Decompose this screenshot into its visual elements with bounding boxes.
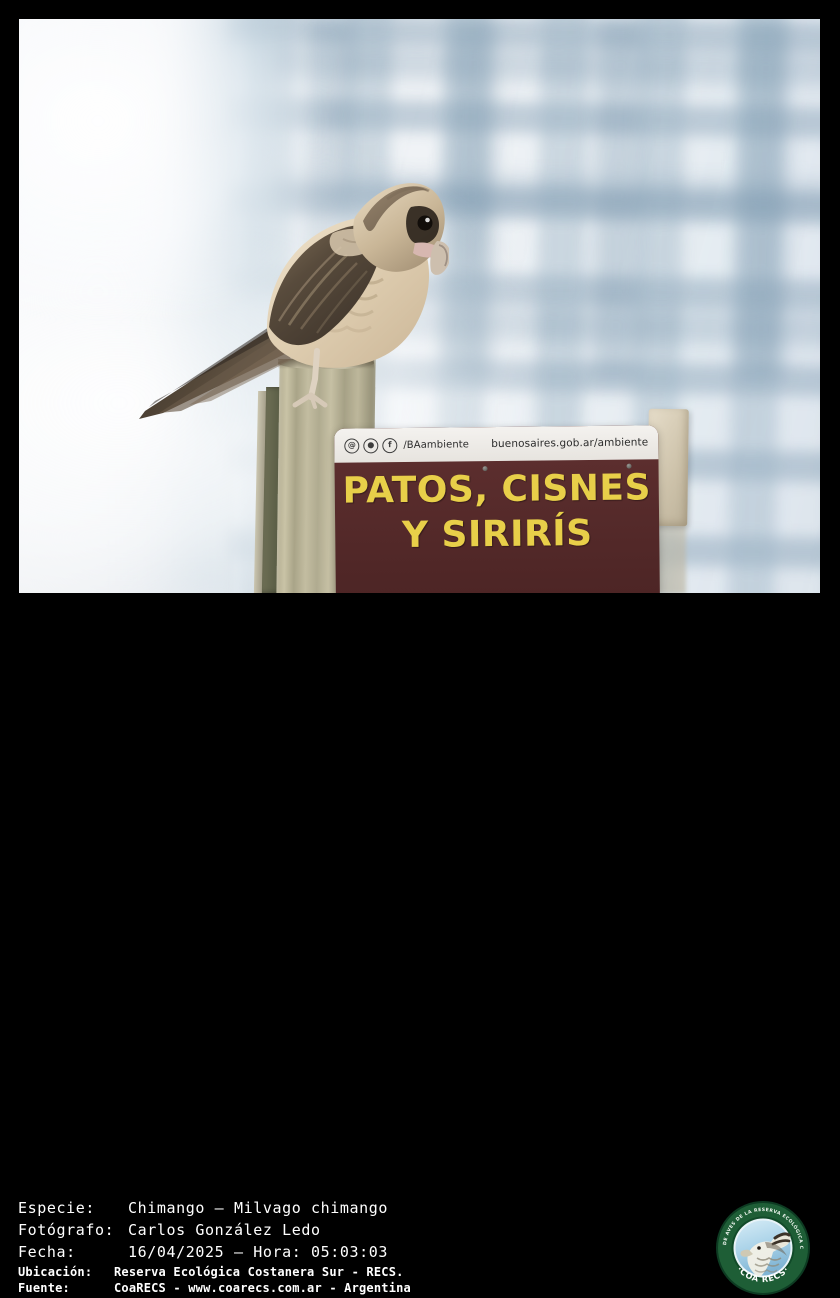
caption-row-fecha: Fecha:16/04/2025 — Hora: 05:03:03 xyxy=(18,1243,388,1261)
caption-value-ubicacion: Reserva Ecológica Costanera Sur - RECS. xyxy=(114,1265,404,1279)
caption-label-especie: Especie: xyxy=(18,1199,128,1217)
caption-row-ubicacion: Ubicación:Reserva Ecológica Costanera Su… xyxy=(18,1265,404,1279)
caption-row-fuente: Fuente:CoaRECS - www.coarecs.com.ar - Ar… xyxy=(18,1281,411,1295)
caption-label-fuente: Fuente: xyxy=(18,1281,114,1295)
sign-social-group: @ ● f /BAambiente xyxy=(344,437,469,453)
caption-label-ubicacion: Ubicación: xyxy=(18,1265,114,1279)
coa-recs-logo: OBSERVADORES DE AVES DE LA RESERVA ECOLÓ… xyxy=(713,1198,813,1298)
caption-row-fotografo: Fotógrafo:Carlos González Ledo xyxy=(18,1221,321,1239)
caption-value-fuente: CoaRECS - www.coarecs.com.ar - Argentina xyxy=(114,1281,411,1295)
photo-image: @ ● f /BAambiente buenosaires.gob.ar/amb… xyxy=(19,19,820,593)
caption-value-fotografo: Carlos González Ledo xyxy=(128,1221,321,1239)
chimango-caracara-bird xyxy=(119,129,449,419)
interpretive-sign-board: @ ● f /BAambiente buenosaires.gob.ar/amb… xyxy=(334,425,660,593)
twitter-icon: ● xyxy=(363,438,378,453)
sign-website-url: buenosaires.gob.ar/ambiente xyxy=(491,436,648,450)
caption-label-fecha: Fecha: xyxy=(18,1243,128,1261)
screenshot-frame: @ ● f /BAambiente buenosaires.gob.ar/amb… xyxy=(0,0,840,710)
sign-header-bar: @ ● f /BAambiente buenosaires.gob.ar/amb… xyxy=(334,425,658,462)
caption-value-especie: Chimango — Milvago chimango xyxy=(128,1199,388,1217)
caption-value-fecha: 16/04/2025 — Hora: 05:03:03 xyxy=(128,1243,388,1261)
facebook-icon: f xyxy=(382,438,397,453)
caption-label-fotografo: Fotógrafo: xyxy=(18,1221,128,1239)
caption-bar: Especie:Chimango — Milvago chimango Fotó… xyxy=(0,593,840,710)
sign-social-handle: /BAambiente xyxy=(403,439,469,451)
sign-title: PATOS, CISNES Y SIRIRÍS xyxy=(335,465,660,558)
instagram-icon: @ xyxy=(344,438,359,453)
caption-row-especie: Especie:Chimango — Milvago chimango xyxy=(18,1199,388,1217)
sign-title-line-2: Y SIRIRÍS xyxy=(335,510,659,558)
sign-title-line-1: PATOS, CISNES xyxy=(335,465,659,513)
